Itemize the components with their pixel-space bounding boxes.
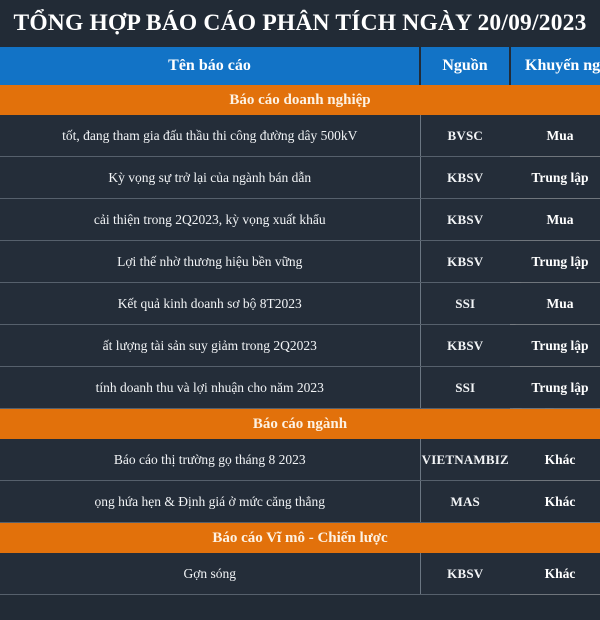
table-row[interactable]: ọng hứa hẹn & Định giá ở mức căng thẳngM… <box>0 481 600 523</box>
table-row[interactable]: tốt, đang tham gia đấu thầu thi công đườ… <box>0 115 600 157</box>
cell-recommendation-badge: Khác <box>510 553 600 595</box>
section-header-label: Báo cáo Vĩ mô - Chiến lược <box>0 523 600 554</box>
section-header-row: Báo cáo Vĩ mô - Chiến lược <box>0 523 600 554</box>
table-header-row: Tên báo cáo Nguồn Khuyến nghị <box>0 47 600 85</box>
cell-report-name[interactable]: ất lượng tài sản suy giảm trong 2Q2023 <box>0 325 420 367</box>
cell-source: SSI <box>420 367 510 409</box>
cell-recommendation-badge: Trung lập <box>510 241 600 283</box>
cell-source: KBSV <box>420 157 510 199</box>
cell-recommendation-badge: Khác <box>510 439 600 481</box>
page-title-bar: TỔNG HỢP BÁO CÁO PHÂN TÍCH NGÀY 20/09/20… <box>0 0 600 47</box>
cell-source: KBSV <box>420 553 510 595</box>
table-body: Báo cáo doanh nghiệptốt, đang tham gia đ… <box>0 85 600 595</box>
cell-report-name[interactable]: Báo cáo thị trường gọ tháng 8 2023 <box>0 439 420 481</box>
table-row[interactable]: ất lượng tài sản suy giảm trong 2Q2023KB… <box>0 325 600 367</box>
cell-source: BVSC <box>420 115 510 157</box>
cell-report-name[interactable]: ọng hứa hẹn & Định giá ở mức căng thẳng <box>0 481 420 523</box>
table-header: Tên báo cáo Nguồn Khuyến nghị <box>0 47 600 85</box>
table-row[interactable]: Báo cáo thị trường gọ tháng 8 2023VIETNA… <box>0 439 600 481</box>
cell-recommendation-badge: Trung lập <box>510 157 600 199</box>
cell-source: VIETNAMBIZ <box>420 439 510 481</box>
cell-report-name[interactable]: Gợn sóng <box>0 553 420 595</box>
column-header-recommendation: Khuyến nghị <box>510 47 600 85</box>
table-row[interactable]: Kết quả kinh doanh sơ bộ 8T2023SSIMua <box>0 283 600 325</box>
cell-report-name[interactable]: Lợi thế nhờ thương hiệu bền vững <box>0 241 420 283</box>
cell-source: KBSV <box>420 325 510 367</box>
cell-recommendation-badge: Trung lập <box>510 367 600 409</box>
section-header-row: Báo cáo ngành <box>0 409 600 440</box>
cell-source: KBSV <box>420 199 510 241</box>
cell-report-name[interactable]: tốt, đang tham gia đấu thầu thi công đườ… <box>0 115 420 157</box>
table-row[interactable]: cải thiện trong 2Q2023, kỳ vọng xuất khẩ… <box>0 199 600 241</box>
table-row[interactable]: Lợi thế nhờ thương hiệu bền vữngKBSVTrun… <box>0 241 600 283</box>
cell-recommendation-badge: Khác <box>510 481 600 523</box>
cell-report-name[interactable]: Kết quả kinh doanh sơ bộ 8T2023 <box>0 283 420 325</box>
cell-source: SSI <box>420 283 510 325</box>
table-row[interactable]: tính doanh thu và lợi nhuận cho năm 2023… <box>0 367 600 409</box>
cell-recommendation-badge: Trung lập <box>510 325 600 367</box>
column-header-report-name: Tên báo cáo <box>0 47 420 85</box>
cell-report-name[interactable]: tính doanh thu và lợi nhuận cho năm 2023 <box>0 367 420 409</box>
column-header-source: Nguồn <box>420 47 510 85</box>
cell-recommendation-badge: Mua <box>510 115 600 157</box>
cell-report-name[interactable]: Kỳ vọng sự trở lại của ngành bán dẫn <box>0 157 420 199</box>
cell-recommendation-badge: Mua <box>510 199 600 241</box>
cell-source: KBSV <box>420 241 510 283</box>
cell-recommendation-badge: Mua <box>510 283 600 325</box>
section-header-row: Báo cáo doanh nghiệp <box>0 85 600 115</box>
cell-report-name[interactable]: cải thiện trong 2Q2023, kỳ vọng xuất khẩ… <box>0 199 420 241</box>
report-page: TỔNG HỢP BÁO CÁO PHÂN TÍCH NGÀY 20/09/20… <box>0 0 600 600</box>
section-header-label: Báo cáo ngành <box>0 409 600 440</box>
table-row[interactable]: Gợn sóngKBSVKhác <box>0 553 600 595</box>
page-title: TỔNG HỢP BÁO CÁO PHÂN TÍCH NGÀY 20/09/20… <box>13 10 586 37</box>
cell-source: MAS <box>420 481 510 523</box>
section-header-label: Báo cáo doanh nghiệp <box>0 85 600 115</box>
footer-strip <box>0 595 600 620</box>
analysis-report-table: Tên báo cáo Nguồn Khuyến nghị Báo cáo do… <box>0 47 600 595</box>
table-row[interactable]: Kỳ vọng sự trở lại của ngành bán dẫnKBSV… <box>0 157 600 199</box>
